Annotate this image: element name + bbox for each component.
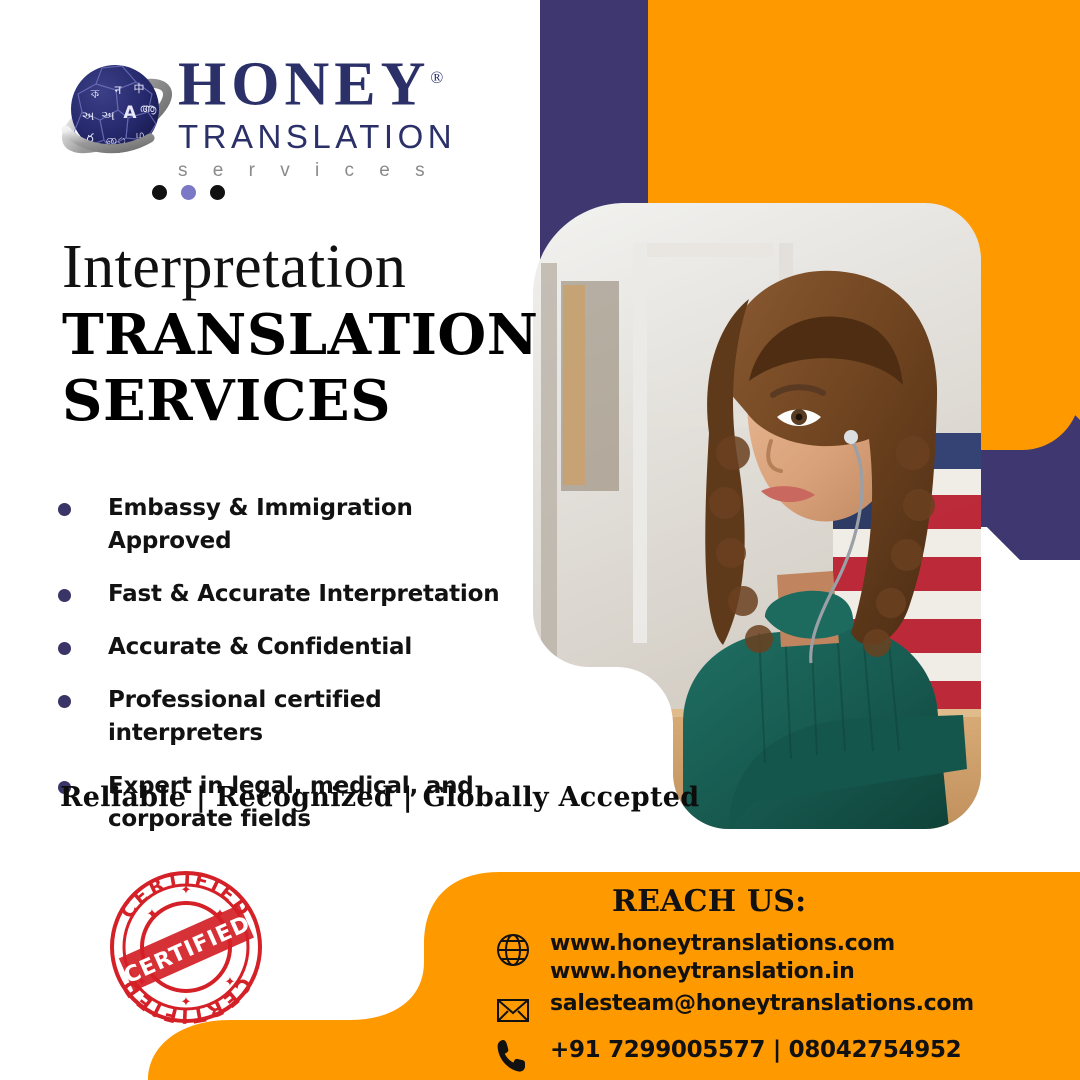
website-url-secondary[interactable]: www.honeytranslation.in [550,958,895,986]
globe-icon [493,930,533,970]
list-item: Professional certified interpreters [58,684,558,750]
phone-icon [493,1036,533,1076]
list-item-label: Fast & Accurate Interpretation [108,578,499,611]
svg-text:中: 中 [134,82,145,95]
certified-stamp-icon: CERTIFIED CERTIFIED ✦ ✦ ✦ ✦ ✦ ✦ CERTIFIE… [106,868,266,1026]
headline-bold-line-2: SERVICES [62,368,532,434]
page-title: Interpretation TRANSLATION SERVICES [62,232,532,434]
dot-black-left [152,185,167,200]
logo-dots-divider [152,185,225,200]
svg-text:✦: ✦ [147,907,158,922]
list-item-label: Accurate & Confidential [108,631,412,664]
list-item: Embassy & Immigration Approved [58,492,558,558]
list-item: Accurate & Confidential [58,631,558,664]
svg-text:A: A [123,103,137,123]
headline-bold-line-1: TRANSLATION [62,302,532,368]
envelope-icon [493,990,533,1030]
svg-text:ক: ক [90,87,100,101]
globe-languages-icon: ক न 中 અ અ A ആ ర ை ழ [58,54,176,172]
list-item-label: Embassy & Immigration Approved [108,492,508,558]
bullet-dot-icon [58,695,71,708]
logo-wordmark: HONEY® TRANSLATION s e r v i c e s [178,46,488,185]
list-item-label: Professional certified interpreters [108,684,508,750]
email-address[interactable]: salesteam@honeytranslations.com [550,990,974,1018]
list-item: Fast & Accurate Interpretation [58,578,558,611]
phone-numbers[interactable]: +91 7299005577 | 08042754952 [550,1036,961,1064]
contact-row-website[interactable]: www.honeytranslations.com www.honeytrans… [493,930,895,986]
bullet-dot-icon [58,589,71,602]
svg-text:અ: અ [82,109,95,123]
headline-script-line: Interpretation [62,232,532,302]
contact-row-email[interactable]: salesteam@honeytranslations.com [493,990,974,1030]
registered-trademark-icon: ® [430,68,443,87]
bullet-dot-icon [58,503,71,516]
svg-text:અ: અ [101,109,115,124]
contact-heading: REACH US: [612,884,806,920]
brand-logo: ক न 中 અ અ A ആ ర ை ழ HONEY® TRANSLATION s… [58,46,488,216]
svg-text:✦: ✦ [181,883,192,898]
logo-name-services: s e r v i c e s [178,157,488,185]
bullet-dot-icon [58,642,71,655]
svg-text:✦: ✦ [181,995,192,1010]
dot-black-right [210,185,225,200]
svg-text:ആ: ആ [140,102,157,115]
logo-name-translation: TRANSLATION [178,117,488,157]
logo-name-honey: HONEY® [178,46,488,117]
interpreter-woman-headset-photo [533,203,981,829]
poster-canvas: ক न 中 અ અ A ആ ర ை ழ HONEY® TRANSLATION s… [0,0,1080,1080]
contact-row-phone[interactable]: +91 7299005577 | 08042754952 [493,1036,961,1076]
svg-text:✦: ✦ [225,975,236,990]
website-url-primary[interactable]: www.honeytranslations.com [550,930,895,958]
svg-text:न: न [115,83,122,97]
tagline: Reliable | Recognized | Globally Accepte… [60,781,699,815]
website-lines: www.honeytranslations.com www.honeytrans… [550,930,895,986]
dot-periwinkle-center [181,185,196,200]
